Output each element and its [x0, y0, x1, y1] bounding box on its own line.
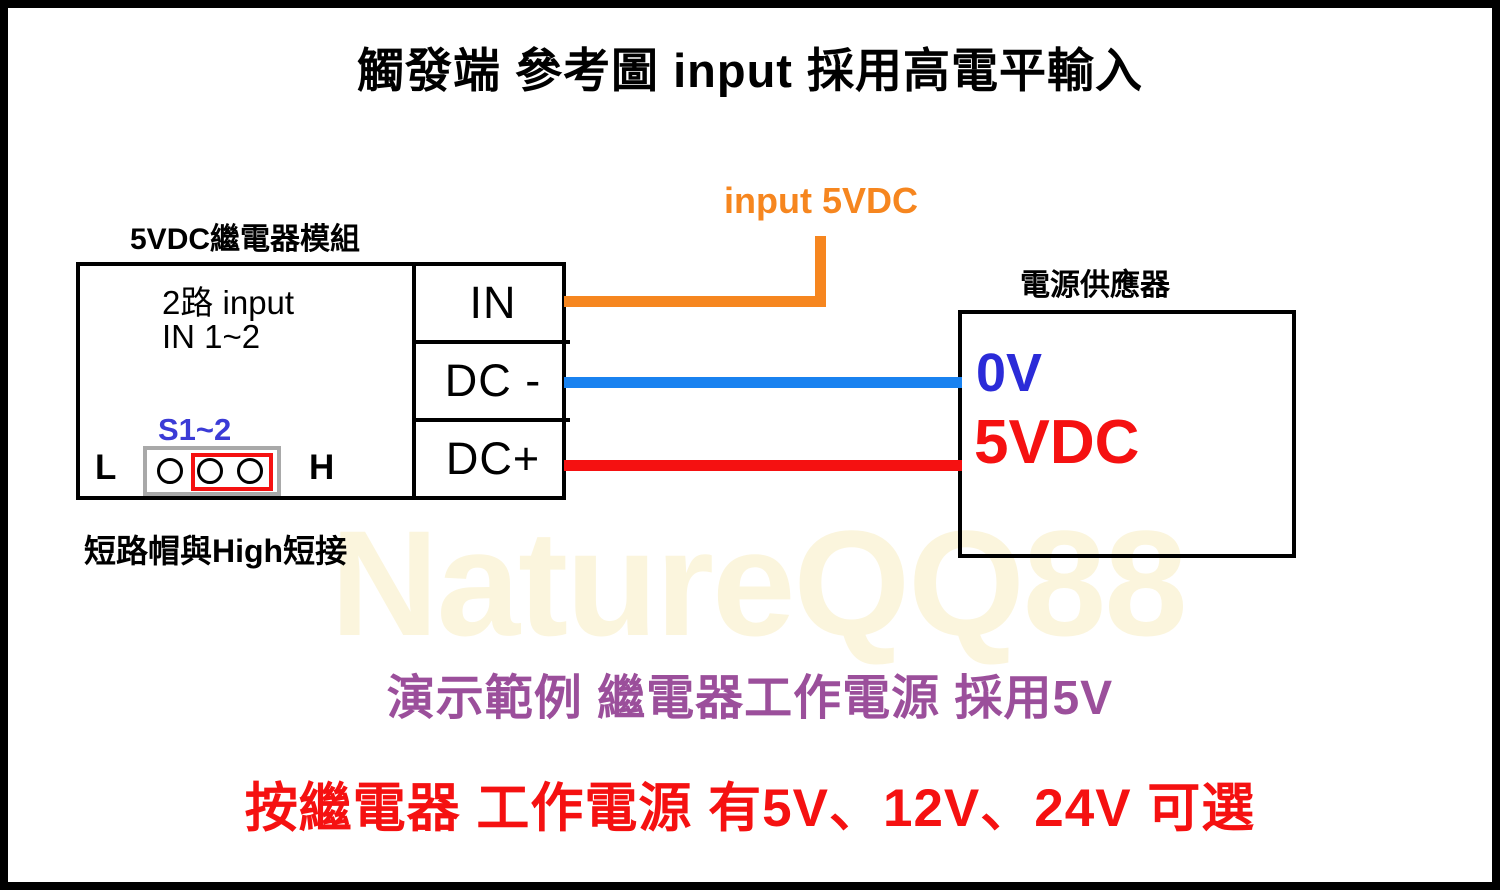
demo-note-purple: 演示範例 繼電器工作電源 採用5V	[8, 658, 1492, 728]
terminal-dc-negative[interactable]: DC -	[416, 340, 570, 418]
jumper-cap-highlight	[191, 453, 273, 491]
relay-module-box: 2路 input IN 1~2 S1~2 L H IN DC - DC+	[76, 262, 566, 500]
low-side-label: L	[95, 448, 116, 488]
terminal-dc-positive[interactable]: DC+	[416, 418, 570, 496]
relay-module-body: 2路 input IN 1~2 S1~2 L H	[80, 266, 412, 496]
power-supply-negative-label: 0V	[976, 346, 1042, 400]
relay-terminal-block: IN DC - DC+	[412, 266, 570, 496]
relay-input-count-label: 2路 input	[162, 276, 294, 324]
relay-module-caption: 5VDC繼電器模組	[130, 214, 360, 258]
input-wire-label: input 5VDC	[724, 180, 918, 222]
power-supply-caption: 電源供應器	[1020, 260, 1170, 304]
input-wire-vertical	[815, 236, 826, 302]
diagram-canvas: NatureQQ88 觸發端 參考圖 input 採用高電平輸入 5VDC繼電器…	[0, 0, 1500, 890]
jumper-pin-low-icon[interactable]	[157, 458, 183, 484]
selector-label: S1~2	[158, 412, 231, 448]
dc-positive-wire	[564, 460, 962, 471]
jumper-note-label: 短路帽與High短接	[84, 526, 347, 572]
jumper-header[interactable]	[143, 446, 281, 496]
diagram-title: 觸發端 參考圖 input 採用高電平輸入	[8, 32, 1492, 101]
high-side-label: H	[309, 448, 334, 488]
input-wire-horizontal	[564, 296, 826, 307]
dc-negative-wire	[564, 377, 962, 388]
terminal-in[interactable]: IN	[416, 266, 570, 340]
power-supply-box: 0V 5VDC	[958, 310, 1296, 558]
voltage-options-note-red: 按繼電器 工作電源 有5V、12V、24V 可選	[8, 766, 1492, 842]
power-supply-positive-label: 5VDC	[974, 412, 1139, 474]
relay-input-range-label: IN 1~2	[162, 318, 260, 356]
